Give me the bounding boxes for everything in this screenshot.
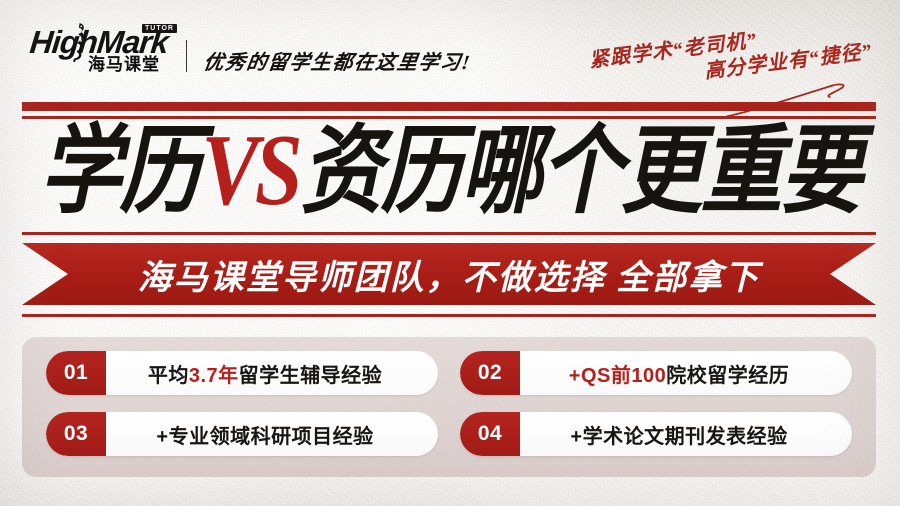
feature-number-02: 02 <box>460 351 520 395</box>
feature-text-04-pre: +学术论文期刊发表经验 <box>570 420 787 449</box>
feature-text-01-pre: 平均 <box>148 359 189 388</box>
feature-text-01-post: 留学生辅导经验 <box>239 359 383 388</box>
feature-item-04[interactable]: 04 +学术论文期刊发表经验 <box>460 412 852 456</box>
feature-item-01[interactable]: 01 平均3.7年留学生辅导经验 <box>46 351 438 395</box>
ribbon-rule-bottom <box>22 314 876 317</box>
headline-vs: VS <box>199 113 300 226</box>
seahorse-icon <box>70 22 86 62</box>
headline-part-2: 资历哪个更重要 <box>301 118 861 225</box>
swoosh-underline-icon <box>721 79 873 119</box>
header-tagline: 优秀的留学生都在这里学习! <box>202 46 473 75</box>
ribbon-rule-top <box>22 232 876 235</box>
feature-number-01: 01 <box>46 351 106 395</box>
feature-number-03: 03 <box>46 412 106 456</box>
logo-chinese-name: 海马课堂 <box>88 56 160 73</box>
feature-text-02: +QS前100院校留学经历 <box>520 359 852 388</box>
feature-text-01-highlight: 3.7年 <box>189 359 239 388</box>
brand-logo[interactable]: HighMark TUTOR 海马课堂 <box>30 22 180 78</box>
feature-item-03[interactable]: 03 +专业领域科研项目经验 <box>46 412 438 456</box>
logo-tutor-badge: TUTOR <box>142 24 177 33</box>
headline-text: 学历VS资历哪个更重要 <box>39 119 860 220</box>
features-grid: 01 平均3.7年留学生辅导经验 02 +QS前100院校留学经历 03 +专业… <box>22 337 876 477</box>
promo-banner: HighMark TUTOR 海马课堂 优秀的留学生都在这里学习! 紧跟学术“老… <box>0 0 900 506</box>
header-rule-thick <box>22 102 876 111</box>
feature-text-04: +学术论文期刊发表经验 <box>520 420 852 449</box>
feature-item-02[interactable]: 02 +QS前100院校留学经历 <box>460 351 852 395</box>
feature-text-03-pre: +专业领域科研项目经验 <box>156 420 373 449</box>
ribbon-text: 海马课堂导师团队，不做选择 全部拿下 <box>22 243 876 305</box>
headline-part-1: 学历 <box>39 118 199 225</box>
header-divider <box>186 40 187 72</box>
headline: 学历VS资历哪个更重要 <box>0 118 900 222</box>
feature-number-04: 04 <box>460 412 520 456</box>
feature-text-02-post: 院校留学经历 <box>666 359 789 388</box>
feature-text-02-highlight: +QS前100 <box>569 359 666 388</box>
feature-text-01: 平均3.7年留学生辅导经验 <box>106 359 438 388</box>
feature-text-03: +专业领域科研项目经验 <box>106 420 438 449</box>
